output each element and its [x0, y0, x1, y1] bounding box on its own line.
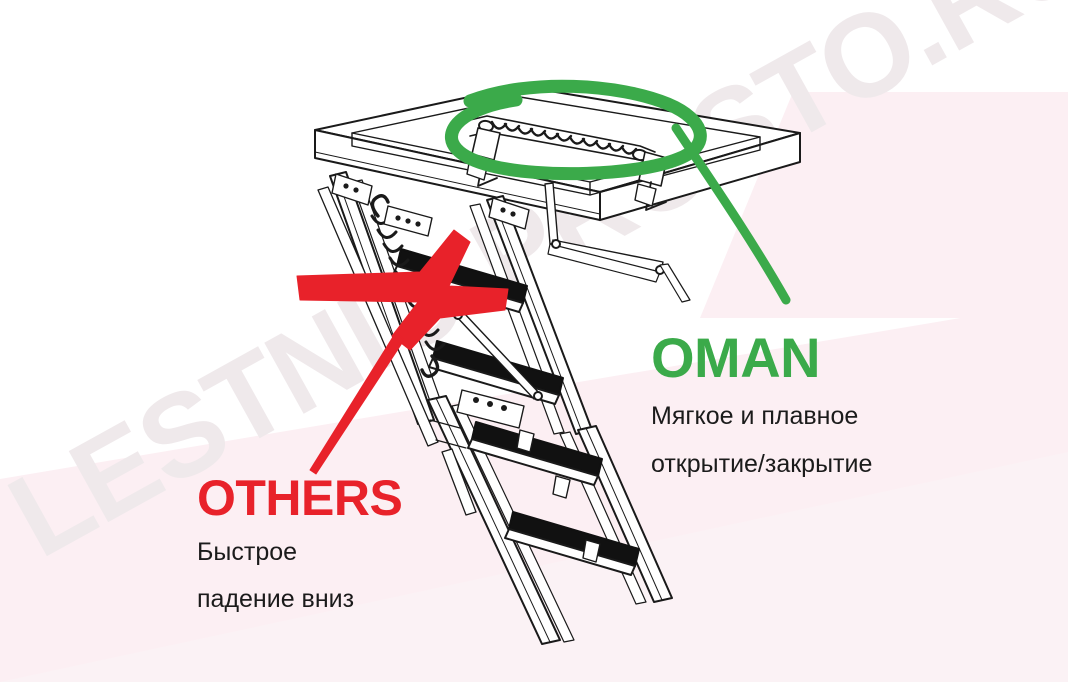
oman-title: OMAN — [651, 330, 872, 386]
others-description-line2: падение вниз — [197, 581, 402, 617]
others-title: OTHERS — [197, 473, 402, 523]
others-description-line1: Быстрое — [197, 534, 402, 570]
callout-others: OTHERS Быстрое падение вниз — [197, 473, 402, 618]
red-arrow-tail — [310, 332, 404, 474]
red-arrow-icon — [297, 230, 508, 350]
red-annotation — [0, 0, 1068, 682]
oman-description-line2: открытие/закрытие — [651, 446, 872, 482]
oman-description-line1: Мягкое и плавное — [651, 398, 872, 434]
illustration-canvas: LESTNIC-PROSTO.RU — [0, 0, 1068, 682]
callout-oman: OMAN Мягкое и плавное открытие/закрытие — [651, 330, 872, 483]
